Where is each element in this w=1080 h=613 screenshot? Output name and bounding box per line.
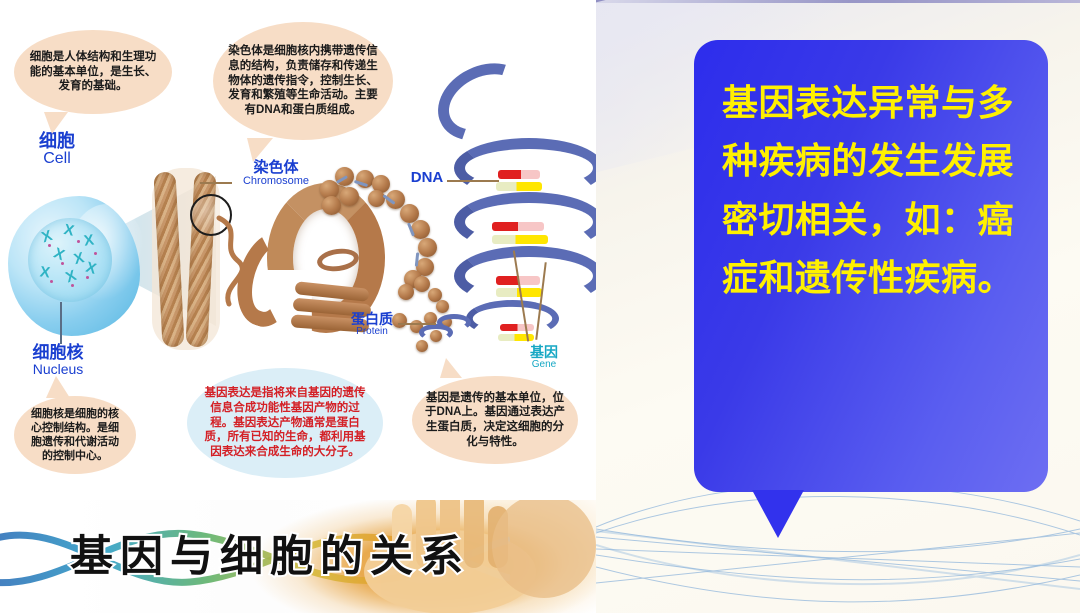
bubble-cell-definition: 细胞是人体结构和生理功能的基本单位，是生长、发育的基础。 — [14, 30, 172, 114]
bubble-gene-expression-text: 基因表达是指将来自基因的遗传信息合成功能性基因产物的过程。基因表达产物通常是蛋白… — [199, 386, 371, 460]
banner-title-text: 基因与细胞的关系 — [0, 522, 540, 584]
label-gene-en: Gene — [522, 360, 566, 371]
label-cell: 细胞 Cell — [14, 132, 100, 168]
label-chromosome: 染色体 Chromosome — [228, 160, 324, 187]
protein-leader-line — [398, 323, 436, 325]
bubble-nucleus-tail — [40, 376, 76, 400]
callout-bubble-tail — [752, 490, 804, 538]
nucleus-shape — [28, 218, 112, 302]
bubble-gene-expression: 基因表达是指将来自基因的遗传信息合成功能性基因产物的过程。基因表达产物通常是蛋白… — [187, 368, 383, 478]
right-callout-panel: 基因表达异常与多种疾病的发生发展密切相关，如：癌症和遗传性疾病。 — [596, 0, 1080, 613]
left-illustration-panel: 细胞 Cell 细胞核 Nucleus 染色体 Chromosome DNA 蛋… — [0, 0, 596, 613]
slide-canvas: 细胞 Cell 细胞核 Nucleus 染色体 Chromosome DNA 蛋… — [0, 0, 1080, 613]
nucleus-leader-line — [60, 302, 62, 344]
bubble-chromosome-tail — [239, 136, 283, 164]
label-nucleus: 细胞核 Nucleus — [8, 344, 108, 377]
bubble-gene-tail — [434, 358, 470, 380]
label-dna: DNA — [405, 170, 449, 186]
label-cell-en: Cell — [14, 151, 100, 168]
label-dna-text: DNA — [405, 170, 449, 186]
callout-bubble: 基因表达异常与多种疾病的发生发展密切相关，如：癌症和遗传性疾病。 — [694, 40, 1048, 492]
label-nucleus-cn: 细胞核 — [8, 344, 108, 362]
bottom-banner: 基因与细胞的关系 — [0, 500, 596, 613]
bubble-cell-text: 细胞是人体结构和生理功能的基本单位，是生长、发育的基础。 — [26, 50, 160, 94]
bubble-nucleus-definition: 细胞核是细胞的核心控制结构。是细胞遗传和代谢活动的控制中心。 — [14, 396, 136, 474]
label-gene-cn: 基因 — [522, 345, 566, 360]
bubble-chromosome-text: 染色体是细胞核内携带遗传信息的结构，负责储存和传递生物体的遗传指令，控制生长、发… — [225, 44, 381, 118]
dna-leader-line — [447, 180, 499, 182]
bubble-gene-definition: 基因是遗传的基本单位，位于DNA上。基因通过表达产生蛋白质，决定这细胞的分化与特… — [412, 376, 578, 464]
label-protein-en: Protein — [344, 327, 400, 338]
bubble-chromosome-definition: 染色体是细胞核内携带遗传信息的结构，负责储存和传递生物体的遗传指令，控制生长、发… — [213, 22, 393, 140]
label-protein-cn: 蛋白质 — [344, 312, 400, 327]
chromatin-fiber-squiggle — [215, 212, 275, 322]
bubble-cell-tail — [38, 110, 78, 136]
bubble-gene-text: 基因是遗传的基本单位，位于DNA上。基因通过表达产生蛋白质，决定这细胞的分化与特… — [424, 391, 566, 450]
label-gene: 基因 Gene — [522, 345, 566, 370]
label-protein: 蛋白质 Protein — [344, 312, 400, 337]
callout-text: 基因表达异常与多种疾病的发生发展密切相关，如：癌症和遗传性疾病。 — [722, 74, 1024, 307]
dna-double-helix — [470, 110, 590, 370]
label-chromosome-en: Chromosome — [228, 176, 324, 188]
bubble-nucleus-text: 细胞核是细胞的核心控制结构。是细胞遗传和代谢活动的控制中心。 — [26, 407, 124, 463]
label-nucleus-en: Nucleus — [8, 362, 108, 377]
